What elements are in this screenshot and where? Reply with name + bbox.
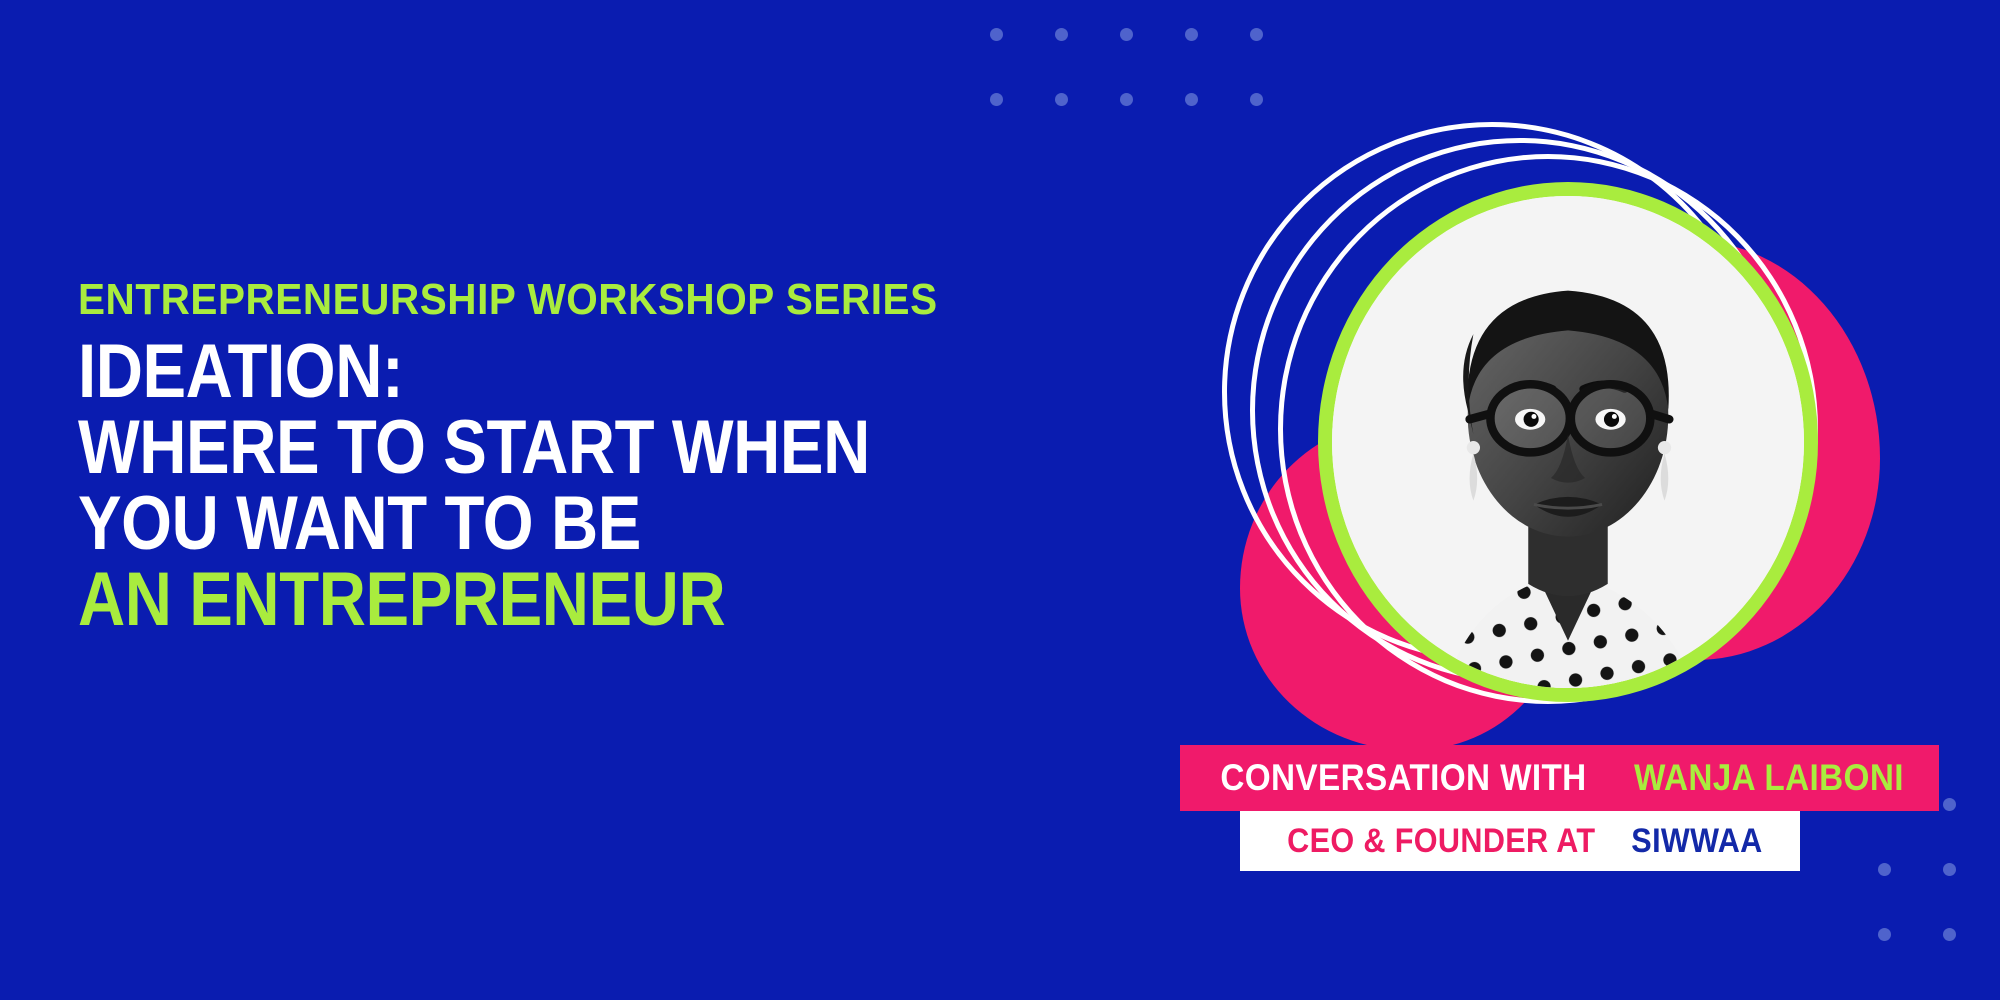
decor-dot	[1120, 93, 1133, 106]
speaker-company: SIWWAA	[1632, 822, 1763, 861]
speaker-role-bar: CEO & FOUNDER AT SIWWAA	[1240, 811, 1800, 871]
decor-dot	[1943, 863, 1956, 876]
decor-dot	[1943, 928, 1956, 941]
decor-dot	[990, 93, 1003, 106]
speaker-portrait-composition	[1150, 100, 1910, 760]
speaker-name: WANJA LAIBONI	[1634, 757, 1904, 799]
headline-block: ENTREPRENEURSHIP WORKSHOP SERIES IDEATIO…	[78, 272, 938, 638]
conversation-with-label: CONVERSATION WITH	[1220, 757, 1586, 799]
speaker-role-label: CEO & FOUNDER AT	[1287, 822, 1595, 861]
event-promo-banner: ENTREPRENEURSHIP WORKSHOP SERIES IDEATIO…	[0, 0, 2000, 1000]
decor-dot	[990, 28, 1003, 41]
headline-line-2: WHERE TO START WHEN	[78, 410, 818, 486]
decor-dot	[1250, 28, 1263, 41]
decor-dot	[1878, 928, 1891, 941]
eyebrow-series-label: ENTREPRENEURSHIP WORKSHOP SERIES	[78, 272, 869, 328]
decor-dot	[1943, 798, 1956, 811]
decor-dot	[1055, 93, 1068, 106]
avatar	[1318, 182, 1818, 702]
headline-line-1: IDEATION:	[78, 334, 818, 410]
page-title: IDEATION: WHERE TO START WHEN YOU WANT T…	[78, 334, 818, 638]
speaker-name-bar: CONVERSATION WITH WANJA LAIBONI	[1180, 745, 1939, 811]
decor-dot	[1185, 28, 1198, 41]
decor-dot	[1055, 28, 1068, 41]
headline-line-3: YOU WANT TO BE	[78, 486, 818, 562]
dot-grid-bottom-right	[1878, 798, 2000, 998]
headline-line-4: AN ENTREPRENEUR	[78, 562, 818, 638]
decor-dot	[1878, 863, 1891, 876]
decor-dot	[1120, 28, 1133, 41]
